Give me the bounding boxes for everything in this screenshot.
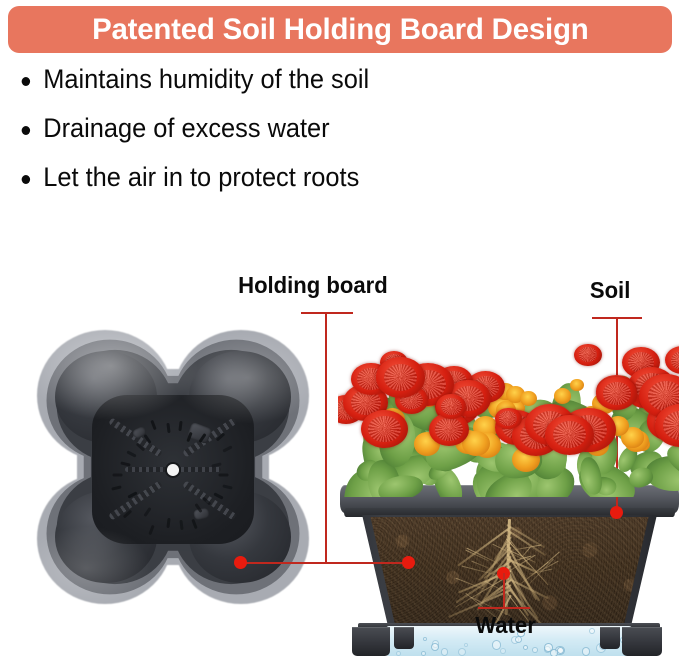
orange-bloom [570, 379, 583, 391]
board-vent-slot [192, 519, 198, 529]
water-bubble [421, 651, 426, 656]
pot-foot [600, 627, 620, 649]
red-bloom [574, 344, 601, 366]
water-bubble [582, 647, 590, 655]
board-vent-slot [222, 446, 232, 453]
feature-list: Maintains humidity of the soil Drainage … [16, 66, 576, 213]
red-bloom [495, 408, 521, 430]
board-vent-slot [151, 420, 157, 430]
red-bloom [596, 377, 637, 410]
board-vent-slot [112, 485, 122, 490]
water-bubble [441, 648, 448, 655]
root-strand [532, 551, 560, 575]
leader-stem-holding-board [325, 312, 327, 563]
board-vent-slot [149, 525, 155, 535]
board-center-plate [92, 395, 253, 544]
water-bubble [523, 645, 528, 650]
water-bubble [492, 640, 501, 649]
water-bubble [589, 628, 595, 634]
orange-bloom [520, 391, 537, 406]
red-bloom [665, 346, 679, 374]
leader-dot-holding-board-right [402, 556, 415, 569]
leader-dot-holding-board-left [234, 556, 247, 569]
board-drain-hole-icon [167, 464, 179, 476]
board-vent-slot [179, 421, 183, 431]
leader-cap-water [478, 607, 530, 609]
bullet-icon [22, 77, 30, 86]
board-vent-slot [222, 484, 232, 489]
callout-label-soil: Soil [590, 277, 630, 304]
board-vent-slot [112, 473, 122, 476]
red-bloom [545, 415, 594, 455]
water-bubble [431, 643, 439, 651]
root-strand [471, 560, 489, 568]
red-bloom [436, 394, 466, 419]
product-diagram: Holding board Soil Water [0, 250, 679, 651]
red-bloom [376, 357, 425, 397]
flower-bed [338, 322, 679, 497]
board-vent-slot [179, 520, 183, 530]
pot-foot [352, 627, 390, 656]
water-bubble [500, 648, 506, 654]
leader-stem-water [503, 573, 505, 608]
feature-item-label: Drainage of excess water [43, 113, 329, 143]
water-bubble [532, 647, 538, 653]
water-bubble [464, 643, 468, 647]
leader-cap-holding-board [301, 312, 353, 314]
feature-item-label: Let the air in to protect roots [43, 162, 359, 192]
board-vent-slot [143, 507, 151, 517]
board-vent-slot [127, 451, 137, 458]
callout-label-water: Water [475, 612, 536, 639]
holding-board-product-photo [18, 318, 328, 616]
feature-item-label: Maintains humidity of the soil [43, 64, 369, 94]
water-bubble [423, 637, 427, 641]
leader-run-holding-board [240, 562, 412, 564]
bullet-icon [22, 175, 30, 184]
header-banner: Patented Soil Holding Board Design [8, 6, 672, 53]
bullet-icon [22, 126, 30, 135]
water-bubble [458, 648, 466, 656]
pot-foot [394, 627, 414, 649]
callout-label-holding-board: Holding board [238, 272, 388, 299]
feature-item: Maintains humidity of the soil [16, 66, 542, 93]
board-vent-slot [166, 423, 170, 433]
feature-item: Drainage of excess water [16, 115, 542, 142]
board-vent-slot [219, 473, 229, 476]
pot-foot [622, 627, 662, 656]
water-bubble [396, 651, 401, 656]
board-vent-slot [166, 518, 170, 528]
feature-item: Let the air in to protect roots [16, 164, 542, 191]
leader-dot-soil [610, 506, 623, 519]
planter-cross-section-photo [338, 312, 679, 642]
board-vent-slot [120, 461, 130, 466]
page-title: Patented Soil Holding Board Design [92, 15, 588, 45]
